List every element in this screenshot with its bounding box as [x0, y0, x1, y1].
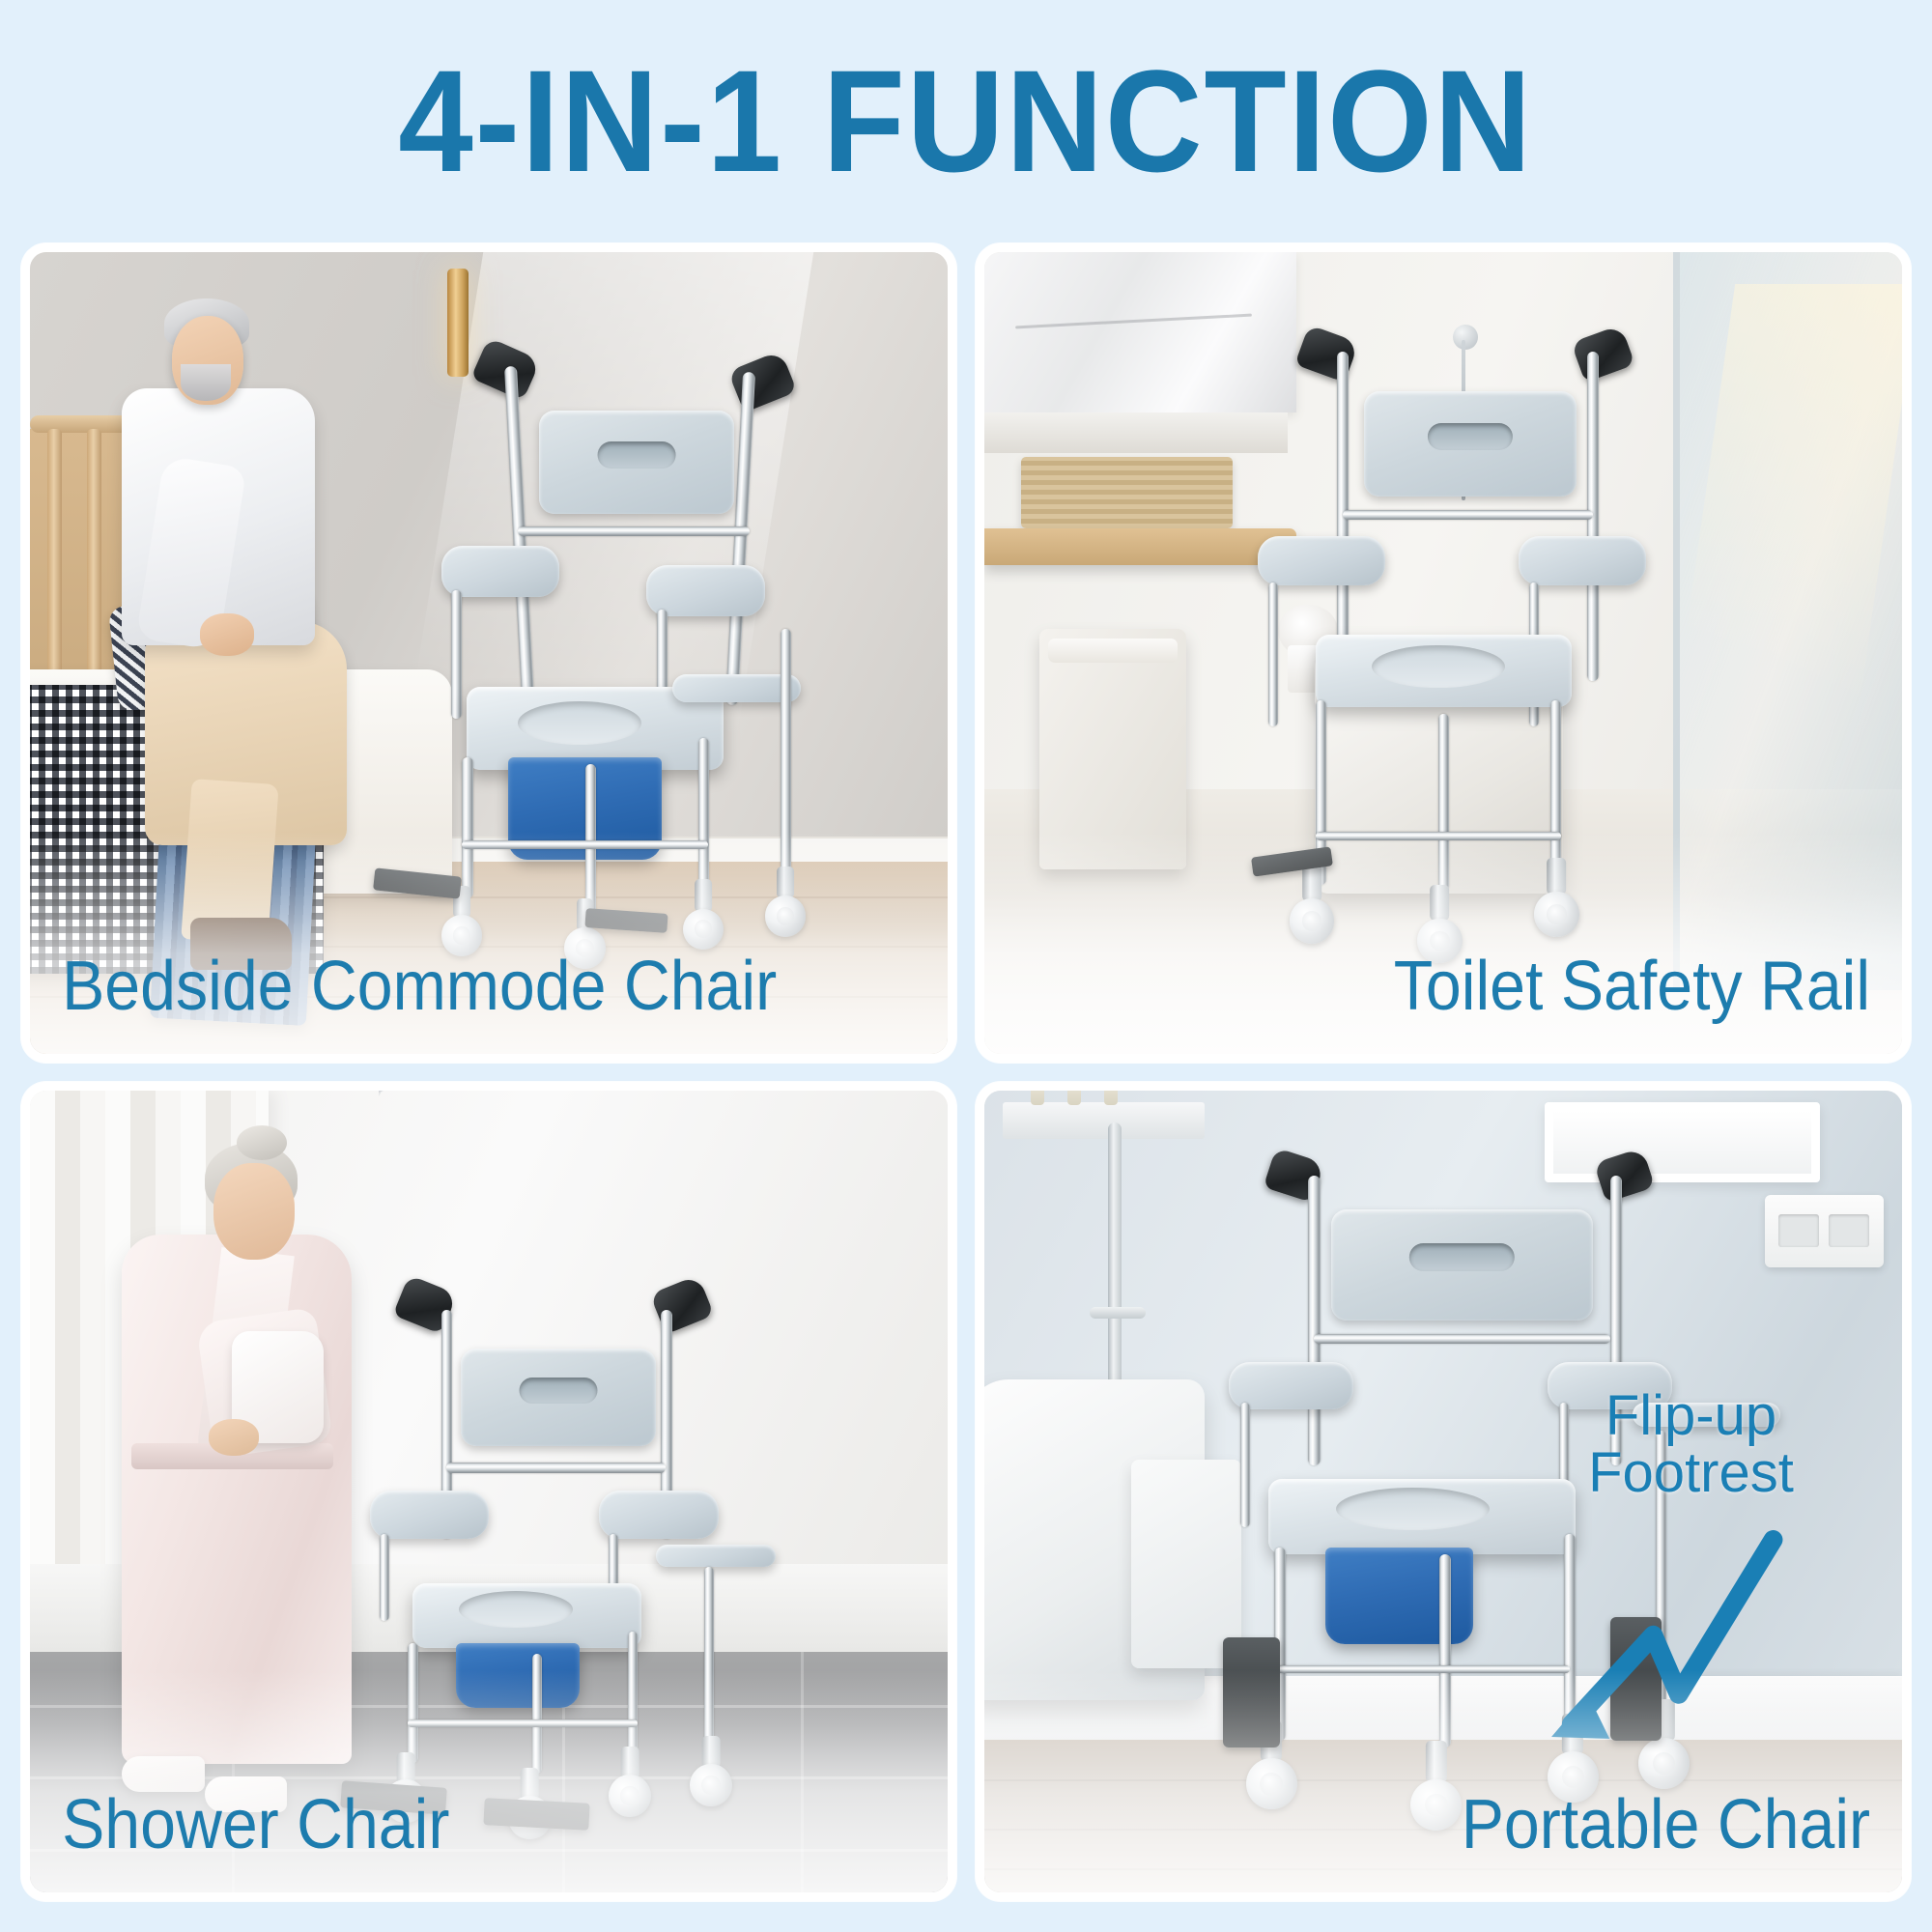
scene-modern-bathroom: Flip-up Footrest — [984, 1091, 1902, 1892]
caster-wheel — [1290, 865, 1335, 944]
caster-wheel — [609, 1747, 651, 1817]
pipe-bracket — [1090, 1307, 1146, 1319]
header-bar: 4-IN-1 FUNCTION — [0, 0, 1932, 241]
commode-chair — [415, 340, 929, 981]
caster-wheel — [1410, 1741, 1462, 1831]
bottle — [1104, 1091, 1118, 1105]
side-rail — [656, 1545, 776, 1567]
caster-wheel — [1417, 885, 1463, 964]
backrest-pad — [461, 1349, 657, 1447]
annotation-line-1: Flip-up — [1508, 1387, 1875, 1444]
commode-bucket — [456, 1643, 580, 1709]
commode-bucket — [1325, 1548, 1473, 1644]
trash-bin — [1039, 629, 1186, 869]
caster-wheel — [765, 867, 807, 937]
backrest-handle-slot — [1409, 1243, 1514, 1272]
woman-head — [213, 1163, 295, 1260]
seat-opening — [459, 1591, 574, 1628]
handle-grip-right — [727, 351, 797, 413]
wicker-basket — [1021, 457, 1233, 529]
page-title: 4-IN-1 FUNCTION — [399, 48, 1534, 193]
panel-bedside-commode-chair[interactable]: Bedside Commode Chair — [21, 243, 956, 1063]
handle-grip-right — [650, 1275, 715, 1335]
woman-hair-bun — [237, 1125, 287, 1160]
scene-bedroom — [30, 252, 948, 1054]
armrest-right — [1519, 536, 1646, 585]
shower-chair — [360, 1283, 838, 1828]
flip-up-footrest — [1223, 1637, 1280, 1747]
slipper — [122, 1756, 205, 1792]
scene-bathroom-toilet — [984, 252, 1902, 1054]
commode-chair — [1241, 332, 1774, 990]
backrest-handle-slot — [520, 1378, 598, 1403]
backrest-handle-slot — [1428, 423, 1513, 450]
seat-opening — [1372, 645, 1505, 689]
armrest-left — [370, 1491, 490, 1540]
caster-wheel — [1534, 858, 1579, 937]
caster-wheel — [683, 879, 724, 950]
woman-hand — [209, 1419, 259, 1456]
armrest-left — [1258, 536, 1385, 585]
panel-portable-chair[interactable]: Flip-up Footrest Portable Chair — [976, 1082, 1911, 1901]
man-beard — [181, 364, 231, 401]
shelf — [1003, 1102, 1205, 1138]
handle-grip-right — [1571, 325, 1635, 383]
seat — [412, 1583, 641, 1649]
seat-opening — [518, 701, 641, 745]
handle-grip-right — [1593, 1148, 1655, 1203]
seat — [1316, 635, 1571, 707]
armrest-left — [441, 546, 559, 597]
man-hand — [200, 613, 254, 656]
annotation-line-2: Footrest — [1508, 1444, 1875, 1501]
seat-opening — [1336, 1488, 1490, 1530]
bottle — [1031, 1091, 1044, 1105]
scene-shower-room — [30, 1091, 948, 1892]
bottle — [1067, 1091, 1081, 1105]
man-shoe — [190, 918, 292, 970]
armrest-right — [646, 565, 764, 616]
panel-shower-chair[interactable]: Shower Chair — [21, 1082, 956, 1901]
annotation-flip-up-footrest: Flip-up Footrest — [1508, 1387, 1875, 1501]
footrest — [484, 1799, 590, 1832]
feature-panel-grid: Bedside Commode Chair — [21, 243, 1911, 1911]
backrest-handle-slot — [597, 441, 675, 469]
backrest-pad — [1364, 391, 1577, 497]
handle-grip-left — [1294, 325, 1359, 383]
panel-toilet-safety-rail[interactable]: Toilet Safety Rail — [976, 243, 1911, 1063]
backrest-pad — [539, 411, 734, 513]
slipper — [205, 1776, 288, 1812]
backrest-pad — [1331, 1209, 1593, 1320]
annotation-arrow-icon — [1471, 1508, 1893, 1780]
armrest-right — [599, 1491, 719, 1540]
caster-wheel — [690, 1736, 732, 1806]
